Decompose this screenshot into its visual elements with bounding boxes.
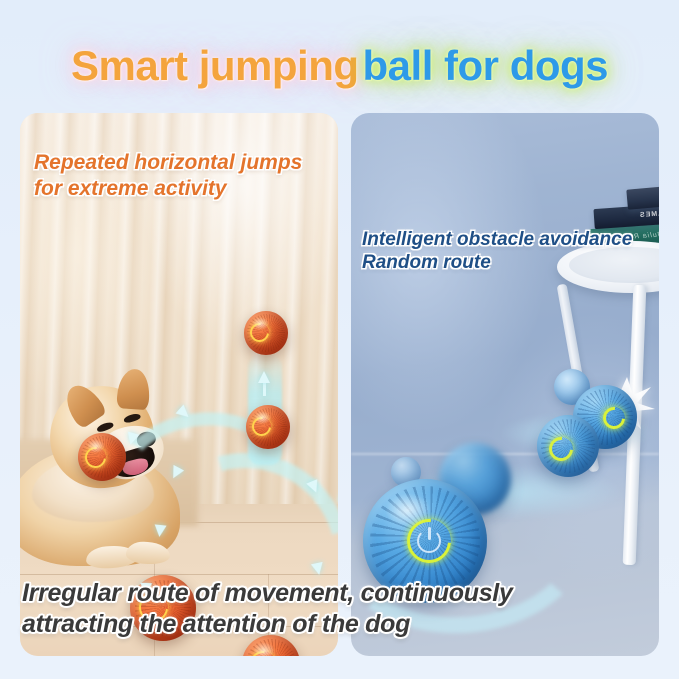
ball-blue-behind bbox=[537, 415, 599, 477]
headline-part-orange: Smart jumping bbox=[69, 42, 361, 90]
trail-arrow-icon-4 bbox=[153, 524, 166, 537]
headline-part-blue: ball for dogs bbox=[361, 42, 611, 90]
scene-obstacle-avoidance: Julia Ross JAMES bbox=[351, 113, 659, 656]
trail-arrow-icon-7 bbox=[311, 562, 325, 576]
left-panel-caption: Repeated horizontal jumps for extreme ac… bbox=[34, 150, 324, 201]
page-headline: Smart jumping ball for dogs bbox=[0, 30, 679, 102]
jump-arrow-up-icon bbox=[258, 371, 270, 383]
ball-orange-mid bbox=[246, 405, 290, 449]
feature-panel-left: Repeated horizontal jumps for extreme ac… bbox=[20, 113, 338, 656]
bottom-caption: Irregular route of movement, continuousl… bbox=[22, 578, 679, 639]
jump-arrow-tail bbox=[263, 383, 266, 396]
feature-panel-right: Julia Ross JAMES bbox=[351, 113, 659, 656]
ball-orange-left bbox=[78, 433, 126, 481]
book-navy-label: JAMES bbox=[639, 210, 659, 219]
right-panel-caption: Intelligent obstacle avoidance Random ro… bbox=[362, 228, 659, 274]
ball-orange-top bbox=[244, 311, 288, 355]
